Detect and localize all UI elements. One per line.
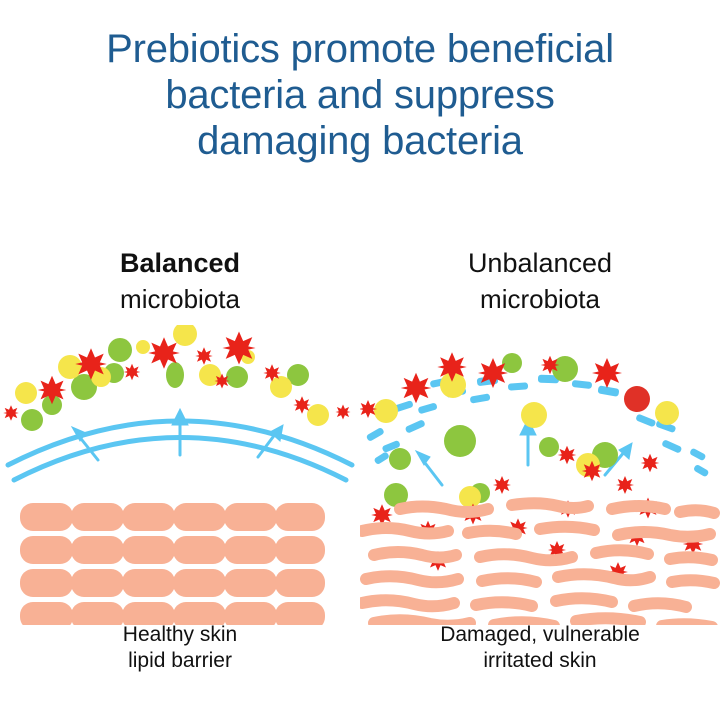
skin-cell	[400, 507, 488, 513]
skin-cell	[558, 574, 650, 580]
skin-cell	[612, 506, 665, 509]
barrier-fragment	[689, 448, 706, 462]
arrow-up-center	[172, 409, 188, 455]
skin-cell	[71, 536, 124, 564]
barrier-fragment	[470, 393, 491, 403]
skin-cell	[224, 503, 277, 531]
skin-cell	[20, 536, 73, 564]
bacteria-red-circle	[624, 386, 650, 412]
bacteria-yellow	[58, 355, 82, 379]
skin-cell	[672, 580, 714, 583]
barrier-strength-arrows	[72, 409, 283, 460]
bacteria-yellow	[173, 325, 197, 346]
bacteria-red-star	[616, 476, 634, 494]
skin-cell	[362, 600, 454, 606]
bacteria-red-star	[336, 405, 351, 420]
skin-cell	[540, 527, 594, 530]
skin-cell	[122, 536, 175, 564]
barrier-fragment	[693, 464, 709, 478]
barrier-fragment	[597, 385, 619, 397]
skin-cell	[20, 569, 73, 597]
skin-cell	[173, 503, 226, 531]
bacteria-yellow	[655, 401, 679, 425]
skin-cell	[468, 531, 516, 534]
skin-cell	[670, 557, 712, 560]
skin-cell	[173, 536, 226, 564]
skin-cell	[71, 503, 124, 531]
panel-balanced-subheading: microbiota	[0, 282, 360, 316]
skin-cell	[275, 569, 325, 597]
panel-unbalanced-caption: Damaged, vulnerable irritated skin	[360, 622, 720, 674]
skin-cell	[680, 510, 714, 513]
bacteria-yellow	[307, 404, 329, 426]
barrier-fragment	[405, 419, 426, 434]
barrier-fragment	[635, 413, 656, 427]
page-title: Prebiotics promote beneficial bacteria a…	[0, 26, 720, 164]
bacteria-green	[166, 362, 184, 388]
bacteria-green	[21, 409, 43, 431]
barrier-fragment	[508, 382, 528, 390]
bacteria-green	[108, 338, 132, 362]
bacteria-yellow	[270, 376, 292, 398]
bacteria-red-star	[360, 400, 377, 418]
bacteria-red-star	[401, 373, 432, 404]
bacteria-green	[389, 448, 411, 470]
skin-cell	[366, 576, 458, 582]
skin-cell	[173, 569, 226, 597]
bacteria-yellow	[374, 399, 398, 423]
barrier-fragment	[366, 427, 385, 442]
barrier-fragment	[661, 439, 682, 454]
skin-cells-ordered	[20, 503, 325, 625]
bacteria-red-star	[558, 446, 577, 465]
bacteria-red-star	[38, 376, 67, 405]
bacteria-red-star	[493, 476, 511, 494]
skin-cell	[122, 569, 175, 597]
skin-cell	[224, 536, 277, 564]
skin-cell	[482, 578, 536, 582]
bacteria-red-star	[592, 358, 622, 388]
skin-cell	[224, 569, 277, 597]
skin-cell	[476, 602, 532, 606]
unbalanced-skin-diagram	[360, 325, 720, 625]
bacteria-green	[226, 366, 248, 388]
bacteria-yellow	[15, 382, 37, 404]
panel-unbalanced-heading: Unbalanced	[360, 246, 720, 280]
skin-cell	[275, 536, 325, 564]
skin-cell	[480, 554, 572, 560]
bacteria-red-star	[641, 454, 660, 473]
barrier-fragment	[373, 451, 389, 465]
skin-cell	[20, 503, 73, 531]
skin-cell	[596, 550, 648, 554]
skin-cells-disordered	[362, 503, 714, 625]
bacteria-yellow	[521, 402, 547, 428]
skin-cell	[71, 569, 124, 597]
bacteria-yellow	[459, 486, 481, 508]
skin-cell	[512, 503, 588, 508]
skin-cell	[634, 603, 686, 607]
skin-cell	[275, 503, 325, 531]
panel-balanced-heading: Balanced	[0, 246, 360, 280]
skin-cell	[374, 552, 456, 558]
panel-balanced: Balanced microbiota	[0, 230, 360, 700]
barrier-fragment	[572, 380, 593, 389]
bacteria-yellow	[136, 340, 150, 354]
barrier-fragment	[418, 402, 438, 414]
bacteria-green	[502, 353, 522, 373]
skin-cell	[556, 598, 612, 602]
bacteria-red-star	[124, 364, 141, 381]
skin-cell	[362, 528, 448, 534]
bacteria-green	[444, 425, 476, 457]
panel-unbalanced-subheading: microbiota	[360, 282, 720, 316]
panel-balanced-caption: Healthy skin lipid barrier	[0, 622, 360, 674]
infographic-root: Prebiotics promote beneficial bacteria a…	[0, 0, 720, 720]
arrow-up-left	[416, 451, 442, 485]
skin-cell	[122, 503, 175, 531]
skin-cell	[618, 532, 710, 537]
bacteria-red-star	[3, 405, 19, 421]
balanced-skin-diagram	[0, 325, 360, 625]
bacteria-red-star	[195, 347, 212, 364]
panel-unbalanced: Unbalanced microbiota	[360, 230, 720, 700]
bacteria-green	[539, 437, 559, 457]
